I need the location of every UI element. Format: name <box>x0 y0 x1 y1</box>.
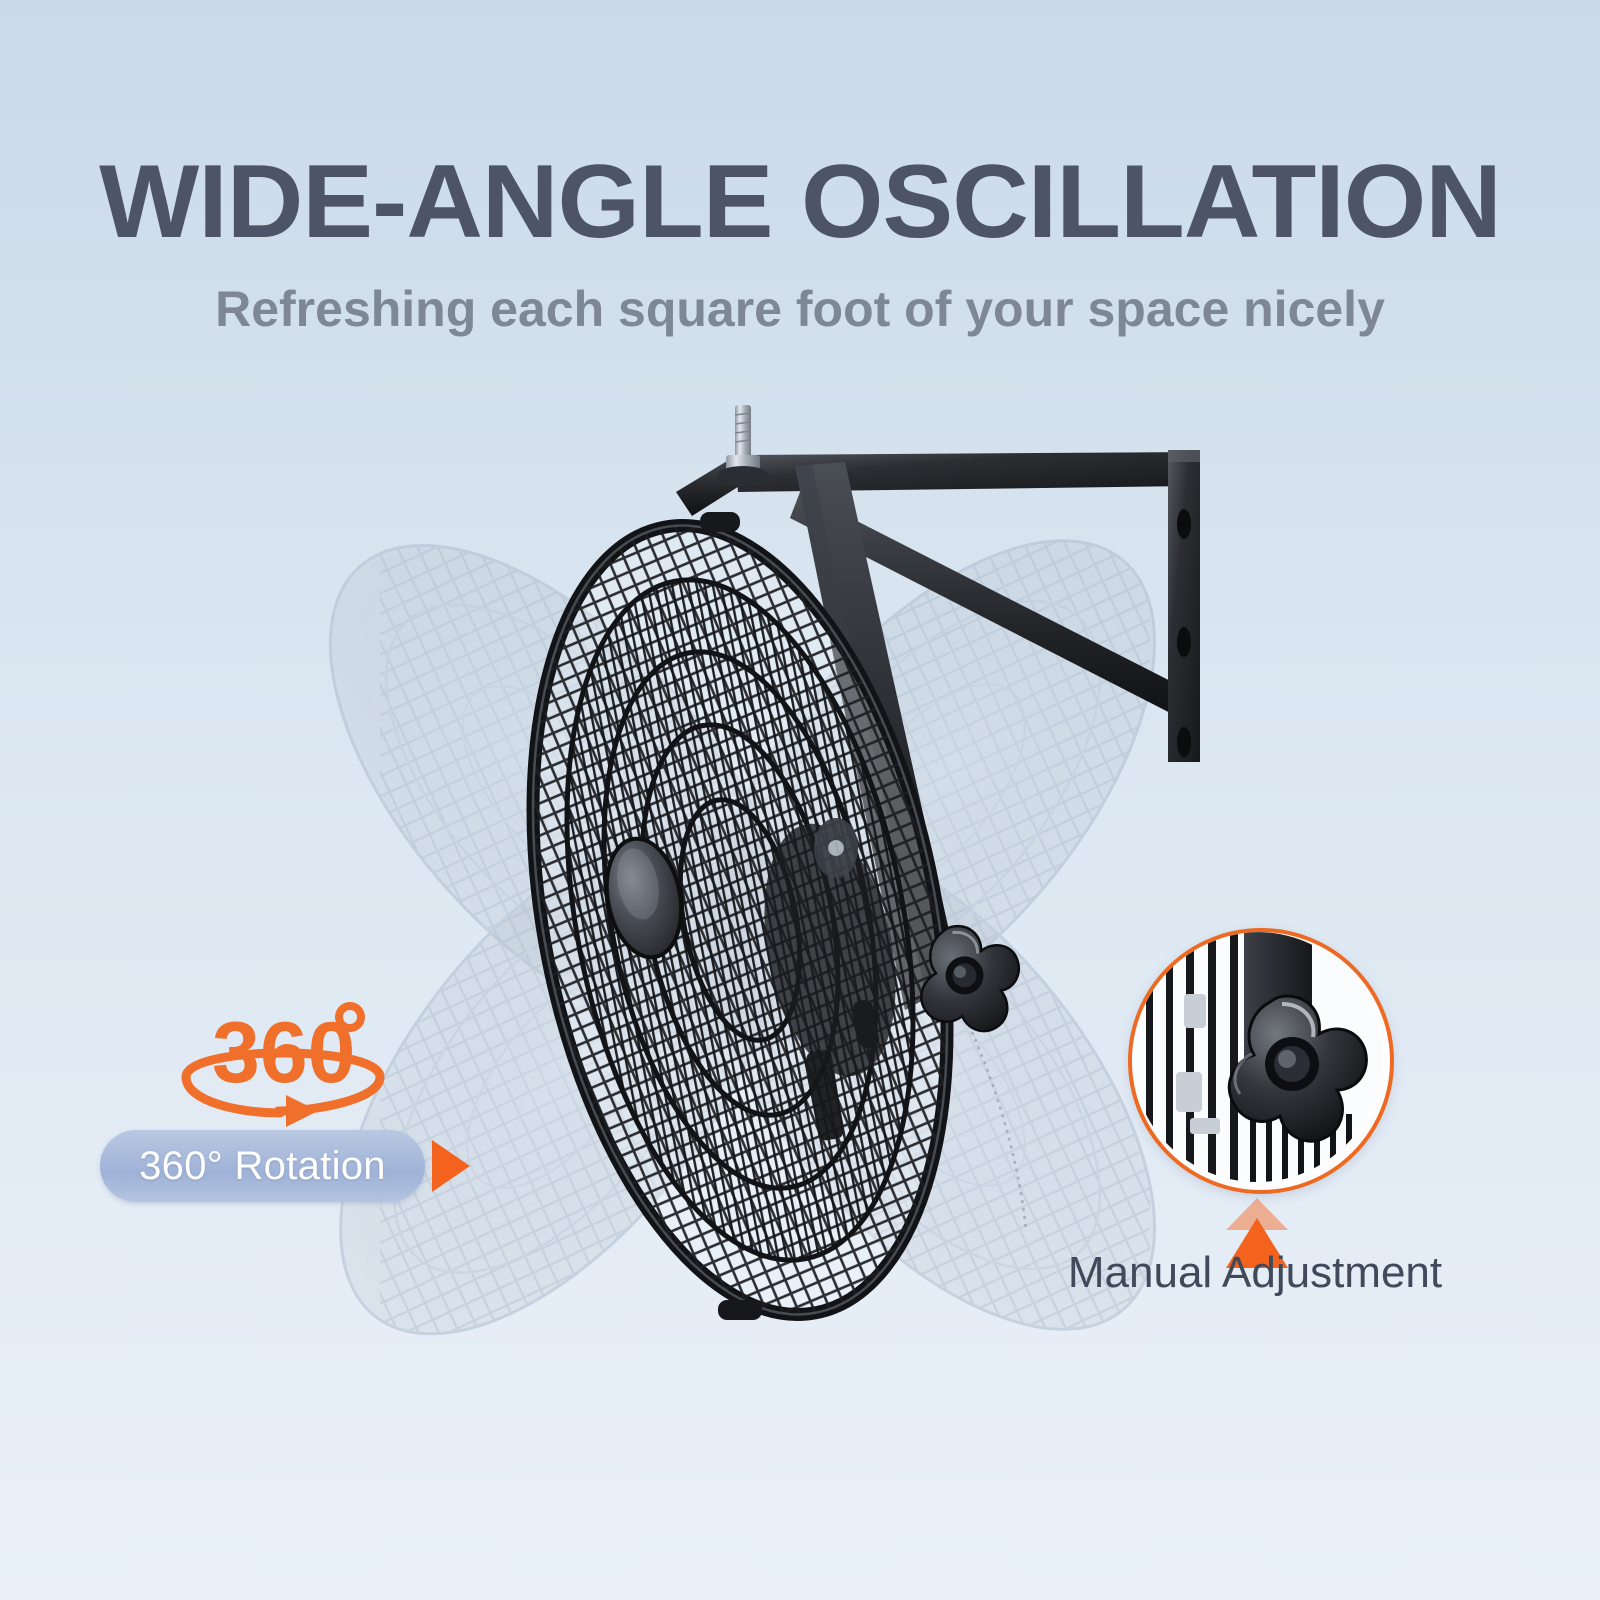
fan-grille-cage <box>471 490 1008 1350</box>
fan-support-strap <box>795 462 960 1010</box>
bracket-mount-holes <box>1177 509 1191 757</box>
wall-mount-bracket <box>676 450 1200 762</box>
svg-text:360: 360 <box>212 1005 356 1101</box>
manual-adjustment-label: Manual Adjustment <box>1005 1248 1505 1298</box>
rotation-badge-label: 360° Rotation <box>100 1130 425 1202</box>
triangle-right-icon <box>432 1140 470 1192</box>
page-title: WIDE-ANGLE OSCILLATION <box>0 150 1600 254</box>
fan-motor-housing <box>745 813 916 1142</box>
pull-chain <box>962 1010 1026 1230</box>
page-subtitle: Refreshing each square foot of your spac… <box>0 284 1600 334</box>
fan-hub-cap <box>597 832 691 964</box>
knob-closeup-circle <box>1128 928 1394 1194</box>
pivot-bolt <box>717 405 769 486</box>
360-rotation-icon: 360 <box>168 985 398 1135</box>
adjustment-knob <box>912 918 1027 1039</box>
product-feature-banner: WIDE-ANGLE OSCILLATION Refreshing each s… <box>0 0 1600 1600</box>
